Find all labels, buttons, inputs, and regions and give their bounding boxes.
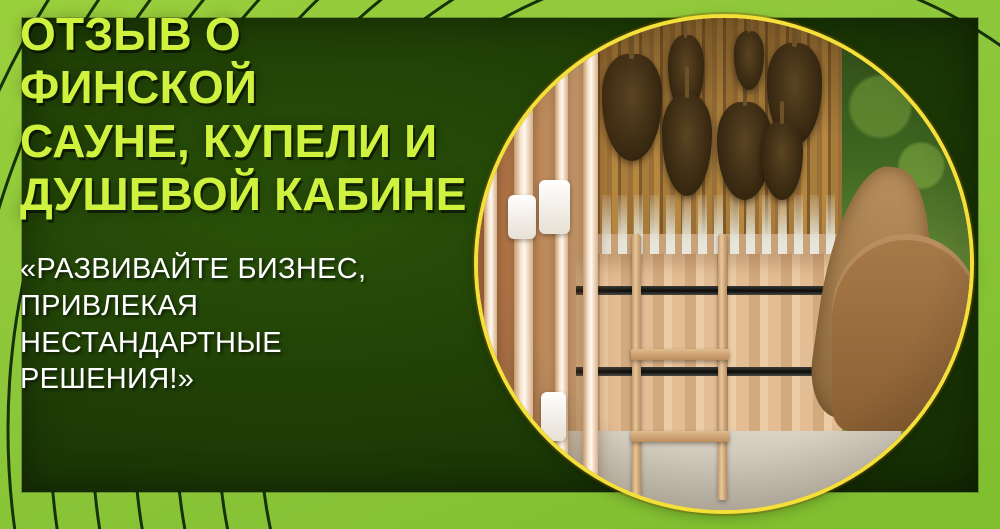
- ladder-step: [631, 431, 729, 442]
- subtitle-quote: «РАЗВИВАЙТЕ БИЗНЕС, ПРИВЛЕКАЯ НЕСТАНДАРТ…: [20, 251, 490, 397]
- post-knob: [541, 392, 566, 441]
- ladder-rail: [632, 234, 641, 500]
- secondary-tub: [832, 234, 970, 431]
- ladder-step: [631, 349, 729, 360]
- post-knob: [508, 195, 536, 239]
- hanging-brooms-group: [596, 23, 872, 220]
- post-knob: [539, 180, 571, 234]
- tub-ladder: [631, 234, 729, 500]
- ladder-rail: [718, 234, 727, 500]
- text-column: ОТЗЫВ О ФИНСКОЙ САУНЕ, КУПЕЛИ И ДУШЕВОЙ …: [20, 8, 490, 398]
- broom-icon: [734, 31, 764, 90]
- wooden-post: [583, 18, 598, 510]
- promo-banner: ОТЗЫВ О ФИНСКОЙ САУНЕ, КУПЕЛИ И ДУШЕВОЙ …: [0, 0, 1000, 529]
- photo-circle: [478, 18, 970, 510]
- broom-icon: [662, 94, 712, 196]
- foreground-posts-group: [478, 18, 616, 510]
- headline-title: ОТЗЫВ О ФИНСКОЙ САУНЕ, КУПЕЛИ И ДУШЕВОЙ …: [20, 8, 490, 221]
- wooden-post: [514, 18, 533, 510]
- sauna-photo: [478, 18, 970, 510]
- broom-icon: [761, 121, 802, 200]
